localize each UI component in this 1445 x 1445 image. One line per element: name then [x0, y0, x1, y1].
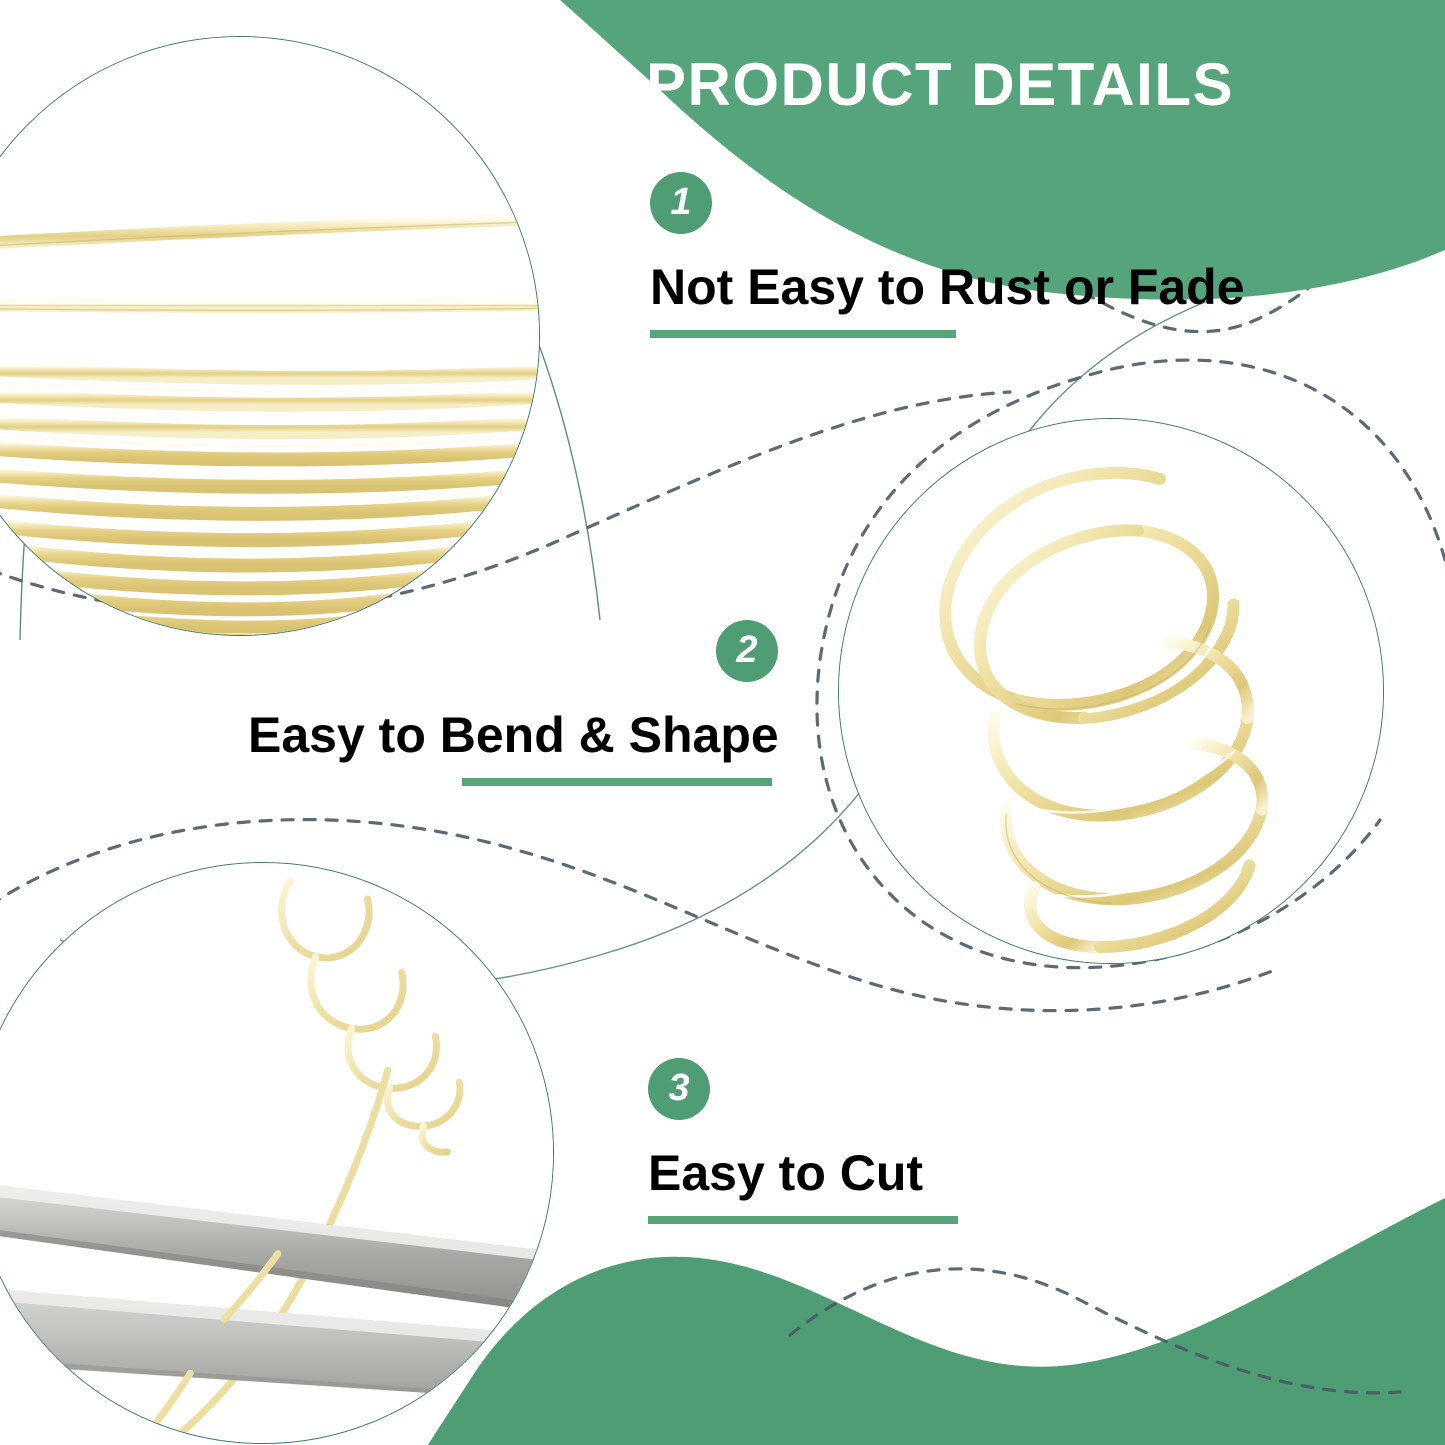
feature-badge-2: 2: [716, 620, 778, 682]
feature-rule-3: [648, 1216, 958, 1224]
gold-wire-coil-art: [0, 37, 539, 635]
bottom-wave-fill: [428, 1198, 1445, 1445]
feature-block-3: 3 Easy to Cut: [648, 1058, 958, 1224]
feature-badge-1: 1: [650, 172, 712, 234]
photo-wire-being-cut: [0, 862, 554, 1444]
page-title: PRODUCT DETAILS: [620, 48, 1260, 122]
feature-badge-3: 3: [648, 1058, 710, 1120]
feature-title-1: Not Easy to Rust or Fade: [650, 258, 1245, 316]
wire-cutting-art: [0, 863, 553, 1443]
photo-gold-wire-coil: [0, 36, 540, 636]
photo-gold-wire-spiral: [838, 418, 1384, 964]
feature-block-2: 2 Easy to Bend & Shape: [248, 620, 772, 786]
infographic-canvas: PRODUCT DETAILS: [0, 0, 1445, 1445]
feature-rule-2: [462, 778, 772, 786]
gold-wire-spiral-art: [839, 419, 1383, 963]
feature-rule-1: [650, 330, 956, 338]
feature-title-2: Easy to Bend & Shape: [248, 706, 772, 764]
feature-title-3: Easy to Cut: [648, 1144, 958, 1202]
feature-block-1: 1 Not Easy to Rust or Fade: [650, 172, 1245, 338]
